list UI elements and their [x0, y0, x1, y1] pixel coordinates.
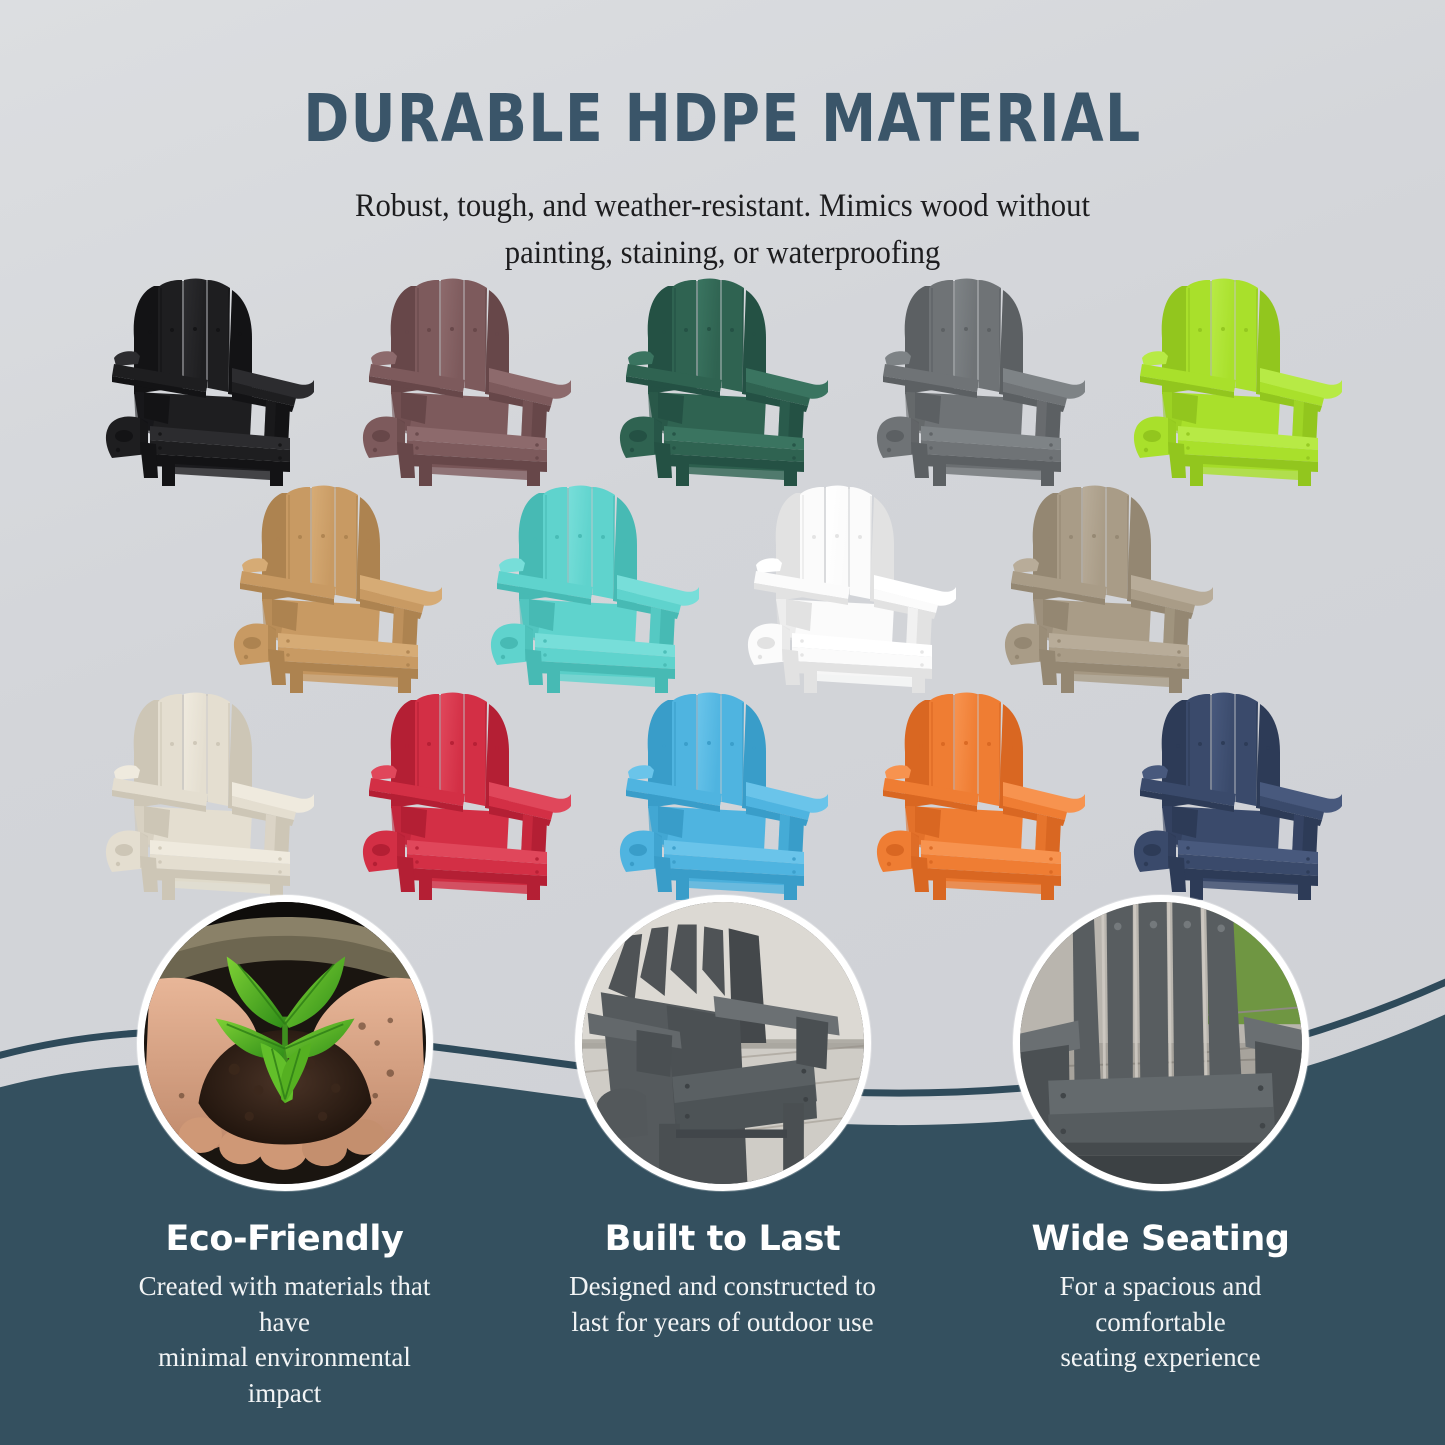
chair-swatch-black[interactable] [100, 272, 318, 487]
feature-wide-seating: Wide Seating For a spacious and comforta… [1001, 895, 1321, 1412]
header: DURABLE HDPE MATERIAL Robust, tough, and… [0, 0, 1445, 277]
chair-swatch-white[interactable] [742, 479, 960, 694]
chair-swatch-taupe[interactable] [999, 479, 1217, 694]
chair-swatch-orange[interactable] [871, 686, 1089, 901]
subtitle: Robust, tough, and weather-resistant. Mi… [51, 183, 1395, 277]
subtitle-line-1: Robust, tough, and weather-resistant. Mi… [51, 183, 1395, 230]
chair-swatch-gray[interactable] [871, 272, 1089, 487]
feature-row: Eco-Friendly Created with materials that… [0, 895, 1445, 1412]
infographic-canvas: DURABLE HDPE MATERIAL Robust, tough, and… [0, 0, 1445, 1445]
chair-swatch-forest-green[interactable] [614, 272, 832, 487]
feature-built-to-last: Built to Last Designed and constructed t… [563, 895, 883, 1412]
feature-image-wide-seating [1013, 895, 1309, 1191]
feature-eco-friendly: Eco-Friendly Created with materials that… [125, 895, 445, 1412]
chair-swatch-teak[interactable] [228, 479, 446, 694]
feature-description-wide-seating: For a spacious and comfortable seating e… [995, 1269, 1327, 1376]
feature-desc-line-1: For a spacious and comfortable [995, 1269, 1327, 1340]
feature-desc-line-2: seating experience [995, 1340, 1327, 1376]
feature-description-eco-friendly: Created with materials that have minimal… [120, 1269, 450, 1412]
feature-desc-line-2: last for years of outdoor use [558, 1305, 888, 1341]
chair-row-3 [0, 686, 1445, 901]
feature-description-built-to-last: Designed and constructed to last for yea… [558, 1269, 888, 1340]
chair-swatch-mauve-brown[interactable] [357, 272, 575, 487]
subtitle-line-2: painting, staining, or waterproofing [51, 230, 1395, 277]
chair-row-1 [0, 272, 1445, 487]
chair-row-2 [0, 479, 1445, 694]
chair-swatch-turquoise[interactable] [485, 479, 703, 694]
chair-swatch-sky-blue[interactable] [614, 686, 832, 901]
chair-color-grid [0, 272, 1445, 901]
feature-image-built-to-last [575, 895, 871, 1191]
chair-swatch-navy-blue[interactable] [1128, 686, 1346, 901]
chair-swatch-red[interactable] [357, 686, 575, 901]
page-title: DURABLE HDPE MATERIAL [51, 80, 1395, 157]
feature-title-wide-seating: Wide Seating [1001, 1219, 1321, 1259]
chair-swatch-lime-green[interactable] [1128, 272, 1346, 487]
feature-image-eco-friendly [137, 895, 433, 1191]
features-section: Eco-Friendly Created with materials that… [0, 895, 1445, 1412]
feature-desc-line-1: Created with materials that have [120, 1269, 450, 1340]
feature-desc-line-2: minimal environmental impact [120, 1340, 450, 1411]
chair-swatch-ivory[interactable] [100, 686, 318, 901]
feature-title-built-to-last: Built to Last [563, 1219, 883, 1259]
feature-title-eco-friendly: Eco-Friendly [125, 1219, 445, 1259]
feature-desc-line-1: Designed and constructed to [558, 1269, 888, 1305]
